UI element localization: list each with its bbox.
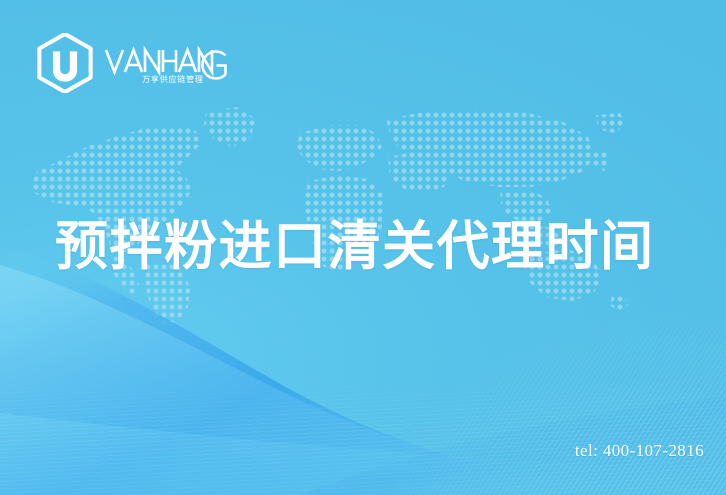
headline-title: 预拌粉进口清关代理时间 bbox=[55, 216, 655, 278]
brand-logo[interactable]: 万享供应链管理 bbox=[36, 33, 229, 93]
logo-chinese-subtitle: 万享供应链管理 bbox=[142, 74, 204, 84]
vanhang-hexagon-icon bbox=[36, 33, 94, 93]
vanhang-wordmark: 万享供应链管理 bbox=[104, 41, 229, 85]
contact-telephone[interactable]: tel: 400-107-2816 bbox=[575, 441, 704, 461]
promo-banner: 万享供应链管理 预拌粉进口清关代理时间 tel: 400-107-2816 bbox=[0, 0, 726, 495]
